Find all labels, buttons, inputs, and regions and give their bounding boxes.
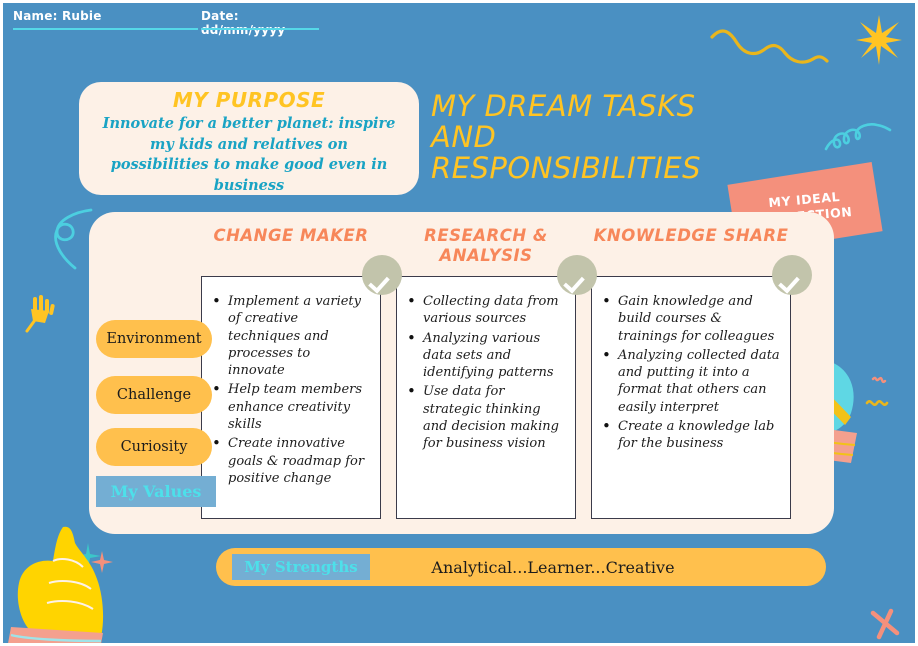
my-strengths-tag: My Strengths bbox=[232, 554, 370, 580]
list-item: Implement a variety of creative techniqu… bbox=[226, 293, 370, 379]
column-card: Implement a variety of creative techniqu… bbox=[201, 276, 381, 519]
hand-doodle-icon bbox=[23, 293, 57, 333]
column-heading: RESEARCH & ANALYSIS bbox=[396, 226, 576, 272]
task-list: Gain knowledge and build courses & train… bbox=[596, 293, 780, 453]
my-purpose-card: MY PURPOSE Innovate for a better planet:… bbox=[79, 82, 419, 195]
list-item: Analyzing collected data and putting it … bbox=[616, 347, 780, 416]
list-item: Help team members enhance creativity ski… bbox=[226, 381, 370, 433]
date-field[interactable]: Date: dd/mm/yyyy bbox=[201, 9, 319, 37]
check-icon[interactable] bbox=[362, 255, 402, 295]
date-underline bbox=[201, 28, 319, 30]
my-strengths-bar: My Strengths Analytical...Learner...Crea… bbox=[216, 548, 826, 586]
value-label: Challenge bbox=[117, 387, 191, 403]
task-list: Collecting data from various sources Ana… bbox=[401, 293, 565, 453]
sparkle-cyan-icon bbox=[75, 543, 101, 569]
my-strengths-label: My Strengths bbox=[244, 558, 357, 576]
worksheet-page: Name: Rubie Date: dd/mm/yyyy MY PURPOSE … bbox=[0, 0, 918, 646]
name-field[interactable]: Name: Rubie bbox=[13, 9, 198, 23]
loop-squiggle-icon bbox=[823, 111, 893, 153]
my-purpose-title: MY PURPOSE bbox=[173, 88, 325, 112]
starburst-icon bbox=[855, 13, 903, 67]
sparkle-pink-icon bbox=[91, 551, 113, 573]
cross-sparkle-icon bbox=[865, 603, 905, 643]
column-card: Gain knowledge and build courses & train… bbox=[591, 276, 791, 519]
task-column-knowledge-share: KNOWLEDGE SHARE Gain knowledge and build… bbox=[591, 226, 791, 519]
my-values-label: My Values bbox=[111, 482, 202, 501]
task-column-research-analysis: RESEARCH & ANALYSIS Collecting data from… bbox=[396, 226, 576, 519]
column-card: Collecting data from various sources Ana… bbox=[396, 276, 576, 519]
list-item: Create innovative goals & roadmap for po… bbox=[226, 435, 370, 487]
column-heading: KNOWLEDGE SHARE bbox=[591, 226, 791, 272]
value-label: Curiosity bbox=[121, 439, 188, 455]
value-pill-environment[interactable]: Environment bbox=[96, 320, 212, 358]
check-icon[interactable] bbox=[772, 255, 812, 295]
list-item: Gain knowledge and build courses & train… bbox=[616, 293, 780, 345]
value-pill-curiosity[interactable]: Curiosity bbox=[96, 428, 212, 466]
column-heading: CHANGE MAKER bbox=[201, 226, 381, 272]
wave-squiggle-icon bbox=[709, 27, 831, 71]
value-pill-challenge[interactable]: Challenge bbox=[96, 376, 212, 414]
name-underline bbox=[13, 28, 198, 30]
page-title: MY DREAM TASKS AND RESPONSIBILITIES bbox=[431, 91, 731, 184]
value-label: Environment bbox=[106, 331, 201, 347]
task-column-change-maker: CHANGE MAKER Implement a variety of crea… bbox=[201, 226, 381, 519]
name-label: Name: Rubie bbox=[13, 9, 102, 23]
list-item: Collecting data from various sources bbox=[421, 293, 565, 328]
list-item: Analyzing various data sets and identify… bbox=[421, 330, 565, 382]
list-item: Create a knowledge lab for the business bbox=[616, 418, 780, 453]
my-values-tag: My Values bbox=[96, 476, 216, 507]
date-label: Date: dd/mm/yyyy bbox=[201, 9, 285, 37]
my-strengths-value[interactable]: Analytical...Learner...Creative bbox=[370, 558, 826, 577]
task-list: Implement a variety of creative techniqu… bbox=[206, 293, 370, 487]
my-purpose-text: Innovate for a better planet: inspire my… bbox=[99, 114, 399, 196]
check-icon[interactable] bbox=[557, 255, 597, 295]
list-item: Use data for strategic thinking and deci… bbox=[421, 383, 565, 452]
